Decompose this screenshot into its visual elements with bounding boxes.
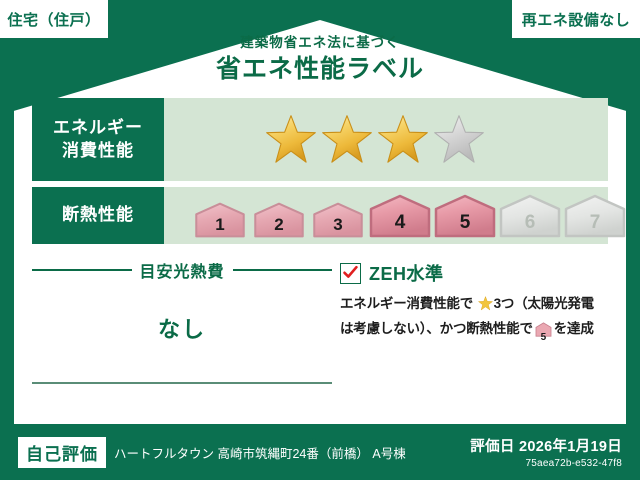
house-grade-inline-value: 5 xyxy=(535,333,552,343)
self-evaluation-badge: 自己評価 xyxy=(18,437,106,468)
energy-performance-label-head: エネルギー 消費性能 xyxy=(32,98,164,181)
evaluation-date: 評価日 2026年1月19日 xyxy=(470,435,622,456)
insulation-grade-1: 1 xyxy=(192,202,248,238)
lower-section: 目安光熱費 なし ZEH水準 エネルギー消費性能で xyxy=(32,258,608,384)
zeh-checkbox[interactable] xyxy=(340,263,361,284)
zeh-description: エネルギー消費性能で 3つ（太陽光発電 は考慮しない）、かつ断熱性能で 5を達成 xyxy=(340,293,608,344)
star-icon xyxy=(432,113,486,167)
insulation-grade-6: 6 xyxy=(499,194,561,238)
star-icon xyxy=(376,113,430,167)
insulation-label: 断熱性能 xyxy=(62,204,134,227)
insulation-grade-value: 7 xyxy=(564,213,626,232)
rule-right xyxy=(233,269,333,271)
energy-performance-label: 住宅（住戸） 再エネ設備なし 建築物省エネ法に基づく 省エネ性能ラベル エネルギ… xyxy=(0,0,640,480)
label-footer: 自己評価 ハートフルタウン 高崎市筑縄町24番（前橋） A号棟 評価日 2026… xyxy=(0,424,640,480)
badge-renewable-energy: 再エネ設備なし xyxy=(512,0,640,38)
zeh-desc-part3: を達成 xyxy=(554,321,594,336)
insulation-grade-2: 2 xyxy=(251,202,307,238)
insulation-grade-value: 2 xyxy=(251,216,307,233)
star-icon xyxy=(320,113,374,167)
zeh-block: ZEH水準 エネルギー消費性能で 3つ（太陽光発電 は考慮しない）、かつ断熱性能… xyxy=(332,258,608,384)
page-title: 省エネ性能ラベル xyxy=(0,57,640,82)
insulation-grade-3: 3 xyxy=(310,202,366,238)
utility-cost-heading: 目安光熱費 xyxy=(32,258,332,282)
energy-label-line1: エネルギー xyxy=(53,117,143,140)
rule-left xyxy=(32,269,132,271)
energy-label-line2: 消費性能 xyxy=(62,140,134,163)
star-rating xyxy=(264,113,486,167)
evaluation-date-value: 2026年1月19日 xyxy=(519,439,622,455)
house-grade-icon-inline: 5 xyxy=(535,322,552,344)
zeh-desc-part2: は考慮しない）、かつ断熱性能で xyxy=(340,321,533,336)
evaluation-id: 75aea72b-e532-47f8 xyxy=(470,458,622,469)
utility-cost-divider xyxy=(32,382,332,384)
insulation-performance-label-head: 断熱性能 xyxy=(32,187,164,244)
insulation-grade-value: 4 xyxy=(369,213,431,232)
insulation-grade-value: 1 xyxy=(192,216,248,233)
header-subtitle: 建築物省エネ法に基づく xyxy=(0,36,640,50)
star-icon-inline xyxy=(474,299,493,314)
insulation-grade-5: 5 xyxy=(434,194,496,238)
energy-performance-row: エネルギー 消費性能 xyxy=(32,98,608,181)
zeh-desc-stars: 3つ（太陽光発電 xyxy=(494,296,594,311)
badge-building-type: 住宅（住戸） xyxy=(0,0,108,38)
energy-performance-value xyxy=(164,98,608,181)
evaluation-meta: 評価日 2026年1月19日 75aea72b-e532-47f8 xyxy=(470,435,622,469)
property-address: ハートフルタウン 高崎市筑縄町24番（前橋） A号棟 xyxy=(114,443,406,462)
label-header: 建築物省エネ法に基づく 省エネ性能ラベル xyxy=(0,36,640,82)
insulation-grade-value: 5 xyxy=(434,213,496,232)
label-content: エネルギー 消費性能 断熱性能 1234567 目安光熱費 xyxy=(32,98,608,384)
insulation-grade-7: 7 xyxy=(564,194,626,238)
evaluation-date-label: 評価日 xyxy=(470,439,514,455)
insulation-grade-value: 3 xyxy=(310,216,366,233)
utility-cost-value: なし xyxy=(32,312,332,344)
utility-cost-block: 目安光熱費 なし xyxy=(32,258,332,384)
zeh-desc-part1: エネルギー消費性能で xyxy=(340,296,473,311)
utility-cost-title: 目安光熱費 xyxy=(140,258,225,282)
zeh-title: ZEH水準 xyxy=(369,260,444,286)
insulation-performance-row: 断熱性能 1234567 xyxy=(32,187,608,244)
star-icon xyxy=(264,113,318,167)
check-icon xyxy=(342,264,359,281)
insulation-grade-scale: 1234567 xyxy=(192,194,626,238)
zeh-heading: ZEH水準 xyxy=(340,260,608,286)
insulation-performance-value: 1234567 xyxy=(164,187,626,244)
insulation-grade-value: 6 xyxy=(499,213,561,232)
insulation-grade-4: 4 xyxy=(369,194,431,238)
